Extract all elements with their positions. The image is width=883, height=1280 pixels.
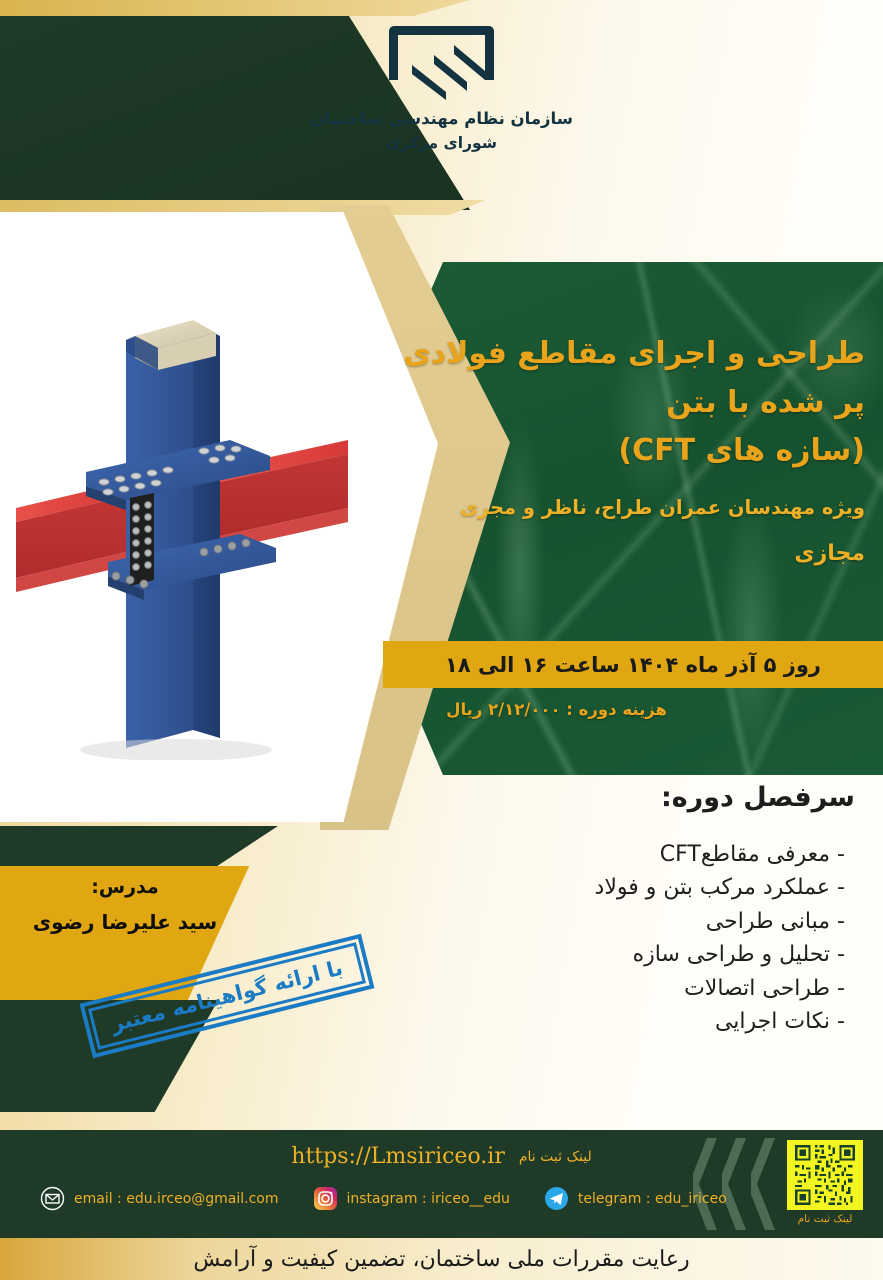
registration-url[interactable]: https://Lmsiriceo.ir xyxy=(291,1144,505,1169)
list-item: - عملکرد مرکب بتن و فولاد xyxy=(595,871,845,904)
contact-telegram-label: telegram : edu_iriceo xyxy=(578,1191,727,1207)
qr-code-caption: لینک ثبت نام xyxy=(779,1213,871,1225)
organization-logo: سازمان نظام مهندسی ساختمان شورای مرکزی xyxy=(0,18,883,155)
footer-bar: لینک ثبت نام لینک ثبت نام https://Lmsiri… xyxy=(0,1130,883,1238)
instructor-band-top-green xyxy=(0,826,278,868)
contact-instagram[interactable]: instagram : iriceo__edu xyxy=(313,1186,510,1211)
contact-email[interactable]: email : edu.irceo@gmail.com xyxy=(40,1186,279,1211)
organization-name: سازمان نظام مهندسی ساختمان شورای مرکزی xyxy=(310,107,573,155)
course-poster: سازمان نظام مهندسی ساختمان شورای مرکزی ط… xyxy=(0,0,883,1280)
qr-code-icon[interactable] xyxy=(787,1140,863,1210)
tagline-text: رعایت مقررات ملی ساختمان، تضمین کیفیت و … xyxy=(193,1247,689,1272)
course-title-block: طراحی و اجرای مقاطع فولادی پر شده با بتن… xyxy=(365,330,865,566)
syllabus-heading: سرفصل دوره: xyxy=(661,782,855,813)
contact-instagram-label: instagram : iriceo__edu xyxy=(347,1191,510,1207)
course-schedule-bar: روز ۵ آذر ماه ۱۴۰۴ ساعت ۱۶ الی ۱۸ xyxy=(383,641,883,688)
telegram-icon xyxy=(544,1186,569,1211)
contact-telegram[interactable]: telegram : edu_iriceo xyxy=(544,1186,727,1211)
list-item: - نکات اجرایی xyxy=(595,1005,845,1038)
course-title-line-1: طراحی و اجرای مقاطع فولادی xyxy=(365,330,865,379)
cft-connection-illustration xyxy=(8,300,378,760)
registration-qr-block[interactable]: لینک ثبت نام xyxy=(779,1140,871,1228)
tagline-bar: رعایت مقررات ملی ساختمان، تضمین کیفیت و … xyxy=(0,1238,883,1280)
course-title-line-2: پر شده با بتن xyxy=(365,379,865,428)
course-title-line-3: (سازه های CFT) xyxy=(365,427,865,476)
instructor-block: مدرس: سید علیرضا رضوی xyxy=(0,876,250,934)
registration-url-row: لینک ثبت نام https://Lmsiriceo.ir xyxy=(0,1144,883,1169)
course-schedule-text: روز ۵ آذر ماه ۱۴۰۴ ساعت ۱۶ الی ۱۸ xyxy=(445,653,821,677)
instagram-icon xyxy=(313,1186,338,1211)
list-item: - طراحی اتصالات xyxy=(595,972,845,1005)
building-roofs-logo-icon xyxy=(384,18,499,100)
organization-name-line2: شورای مرکزی xyxy=(310,132,573,155)
course-audience: ویژه مهندسان عمران طراح، ناظر و مجری xyxy=(365,492,865,523)
syllabus-list: - معرفی مقاطعCFT - عملکرد مرکب بتن و فول… xyxy=(595,838,845,1039)
course-fee: هزینه دوره : ۲/۱۲/۰۰۰ ریال xyxy=(446,700,667,719)
list-item: - تحلیل و طراحی سازه xyxy=(595,938,845,971)
organization-name-line1: سازمان نظام مهندسی ساختمان xyxy=(310,107,573,132)
instructor-role-label: مدرس: xyxy=(0,876,250,898)
contact-email-label: email : edu.irceo@gmail.com xyxy=(74,1191,279,1207)
course-delivery-mode: مجازی xyxy=(365,541,865,566)
registration-url-label: لینک ثبت نام xyxy=(519,1149,592,1165)
contact-row: email : edu.irceo@gmail.com instagra xyxy=(0,1186,883,1211)
list-item: - معرفی مقاطعCFT xyxy=(595,838,845,871)
top-left-gold-band xyxy=(0,0,470,16)
list-item: - مبانی طراحی xyxy=(595,905,845,938)
instructor-name: سید علیرضا رضوی xyxy=(0,910,250,934)
envelope-icon xyxy=(40,1186,65,1211)
